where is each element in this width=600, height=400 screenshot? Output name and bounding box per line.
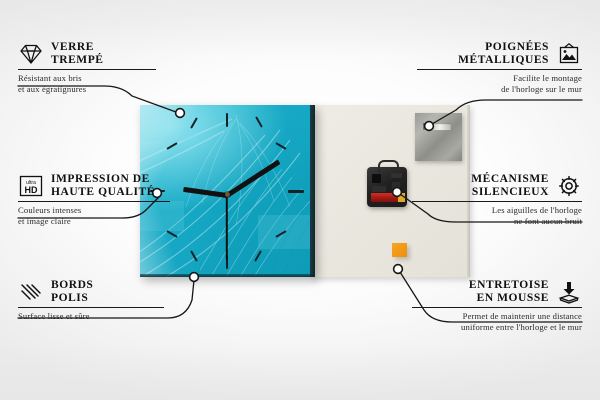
battery-terminal [398, 193, 405, 202]
foam-spacer-icon [556, 280, 582, 304]
feature-verre-trempe: VERRE TREMPÉ Résistant aux bris et aux é… [18, 41, 183, 94]
feature-impression-haute-qualite: ultra HD IMPRESSION DE HAUTE QUALITÉ Cou… [18, 173, 198, 226]
feature-title: ENTRETOISE EN MOUSSE [469, 279, 549, 304]
feature-subtitle: Surface lisse et sûre [18, 311, 183, 321]
polished-edges-icon [18, 280, 44, 304]
feature-header: ultra HD IMPRESSION DE HAUTE QUALITÉ [18, 173, 198, 198]
clock-bottom-edge [140, 274, 315, 277]
feature-divider [18, 69, 156, 70]
feature-poignees-metalliques: POIGNÉES MÉTALLIQUES Facilite le montage… [417, 41, 582, 94]
clock-second-hand [226, 194, 228, 260]
feature-header: VERRE TREMPÉ [18, 41, 183, 66]
feature-title: MÉCANISME SILENCIEUX [471, 173, 549, 198]
diamond-icon [18, 42, 44, 66]
feature-title: VERRE TREMPÉ [51, 41, 104, 66]
mechanism-detail [372, 186, 386, 192]
feature-divider [412, 201, 582, 202]
feature-subtitle: Couleurs intenses et image claire [18, 205, 198, 225]
clock-mechanism-box [367, 167, 407, 207]
clock-tick [226, 113, 228, 127]
feature-divider [18, 201, 170, 202]
feature-header: ENTRETOISE EN MOUSSE [412, 279, 582, 304]
metallic-hanger-plate [415, 113, 462, 161]
feature-entretoise-en-mousse: ENTRETOISE EN MOUSSE Permet de maintenir… [412, 279, 582, 332]
clock-hands-hub [225, 192, 230, 197]
feature-mecanisme-silencieux: MÉCANISME SILENCIEUX Les aiguilles de l'… [412, 173, 582, 226]
feature-divider [412, 307, 582, 308]
mechanism-detail [391, 173, 402, 178]
infographic-canvas: VERRE TREMPÉ Résistant aux bris et aux é… [0, 0, 600, 400]
mechanism-detail [392, 182, 400, 192]
ultra-hd-icon: ultra HD [18, 174, 44, 198]
feature-subtitle: Résistant aux bris et aux égratignures [18, 73, 183, 93]
wall-mount-frame-icon [556, 42, 582, 66]
feature-divider [18, 307, 164, 308]
feature-header: MÉCANISME SILENCIEUX [412, 173, 582, 198]
feature-bords-polis: BORDS POLIS Surface lisse et sûre [18, 279, 183, 322]
mechanism-detail [372, 174, 381, 183]
feature-header: POIGNÉES MÉTALLIQUES [417, 41, 582, 66]
feature-divider [417, 69, 582, 70]
feature-subtitle: Permet de maintenir une distance uniform… [412, 311, 582, 331]
mechanism-hanging-loop [378, 160, 399, 172]
svg-text:HD: HD [25, 184, 38, 194]
feature-header: BORDS POLIS [18, 279, 183, 304]
feature-title: POIGNÉES MÉTALLIQUES [458, 41, 549, 66]
gear-icon [556, 174, 582, 198]
feature-title: BORDS POLIS [51, 279, 93, 304]
feature-title: IMPRESSION DE HAUTE QUALITÉ [51, 173, 155, 198]
clock-side-edge [310, 105, 315, 277]
clock-tick [288, 190, 304, 193]
hanger-keyhole-slot [423, 123, 451, 130]
orange-foam-spacer [392, 243, 407, 257]
feature-subtitle: Les aiguilles de l'horloge ne font aucun… [412, 205, 582, 225]
feature-subtitle: Facilite le montage de l'horloge sur le … [417, 73, 582, 93]
